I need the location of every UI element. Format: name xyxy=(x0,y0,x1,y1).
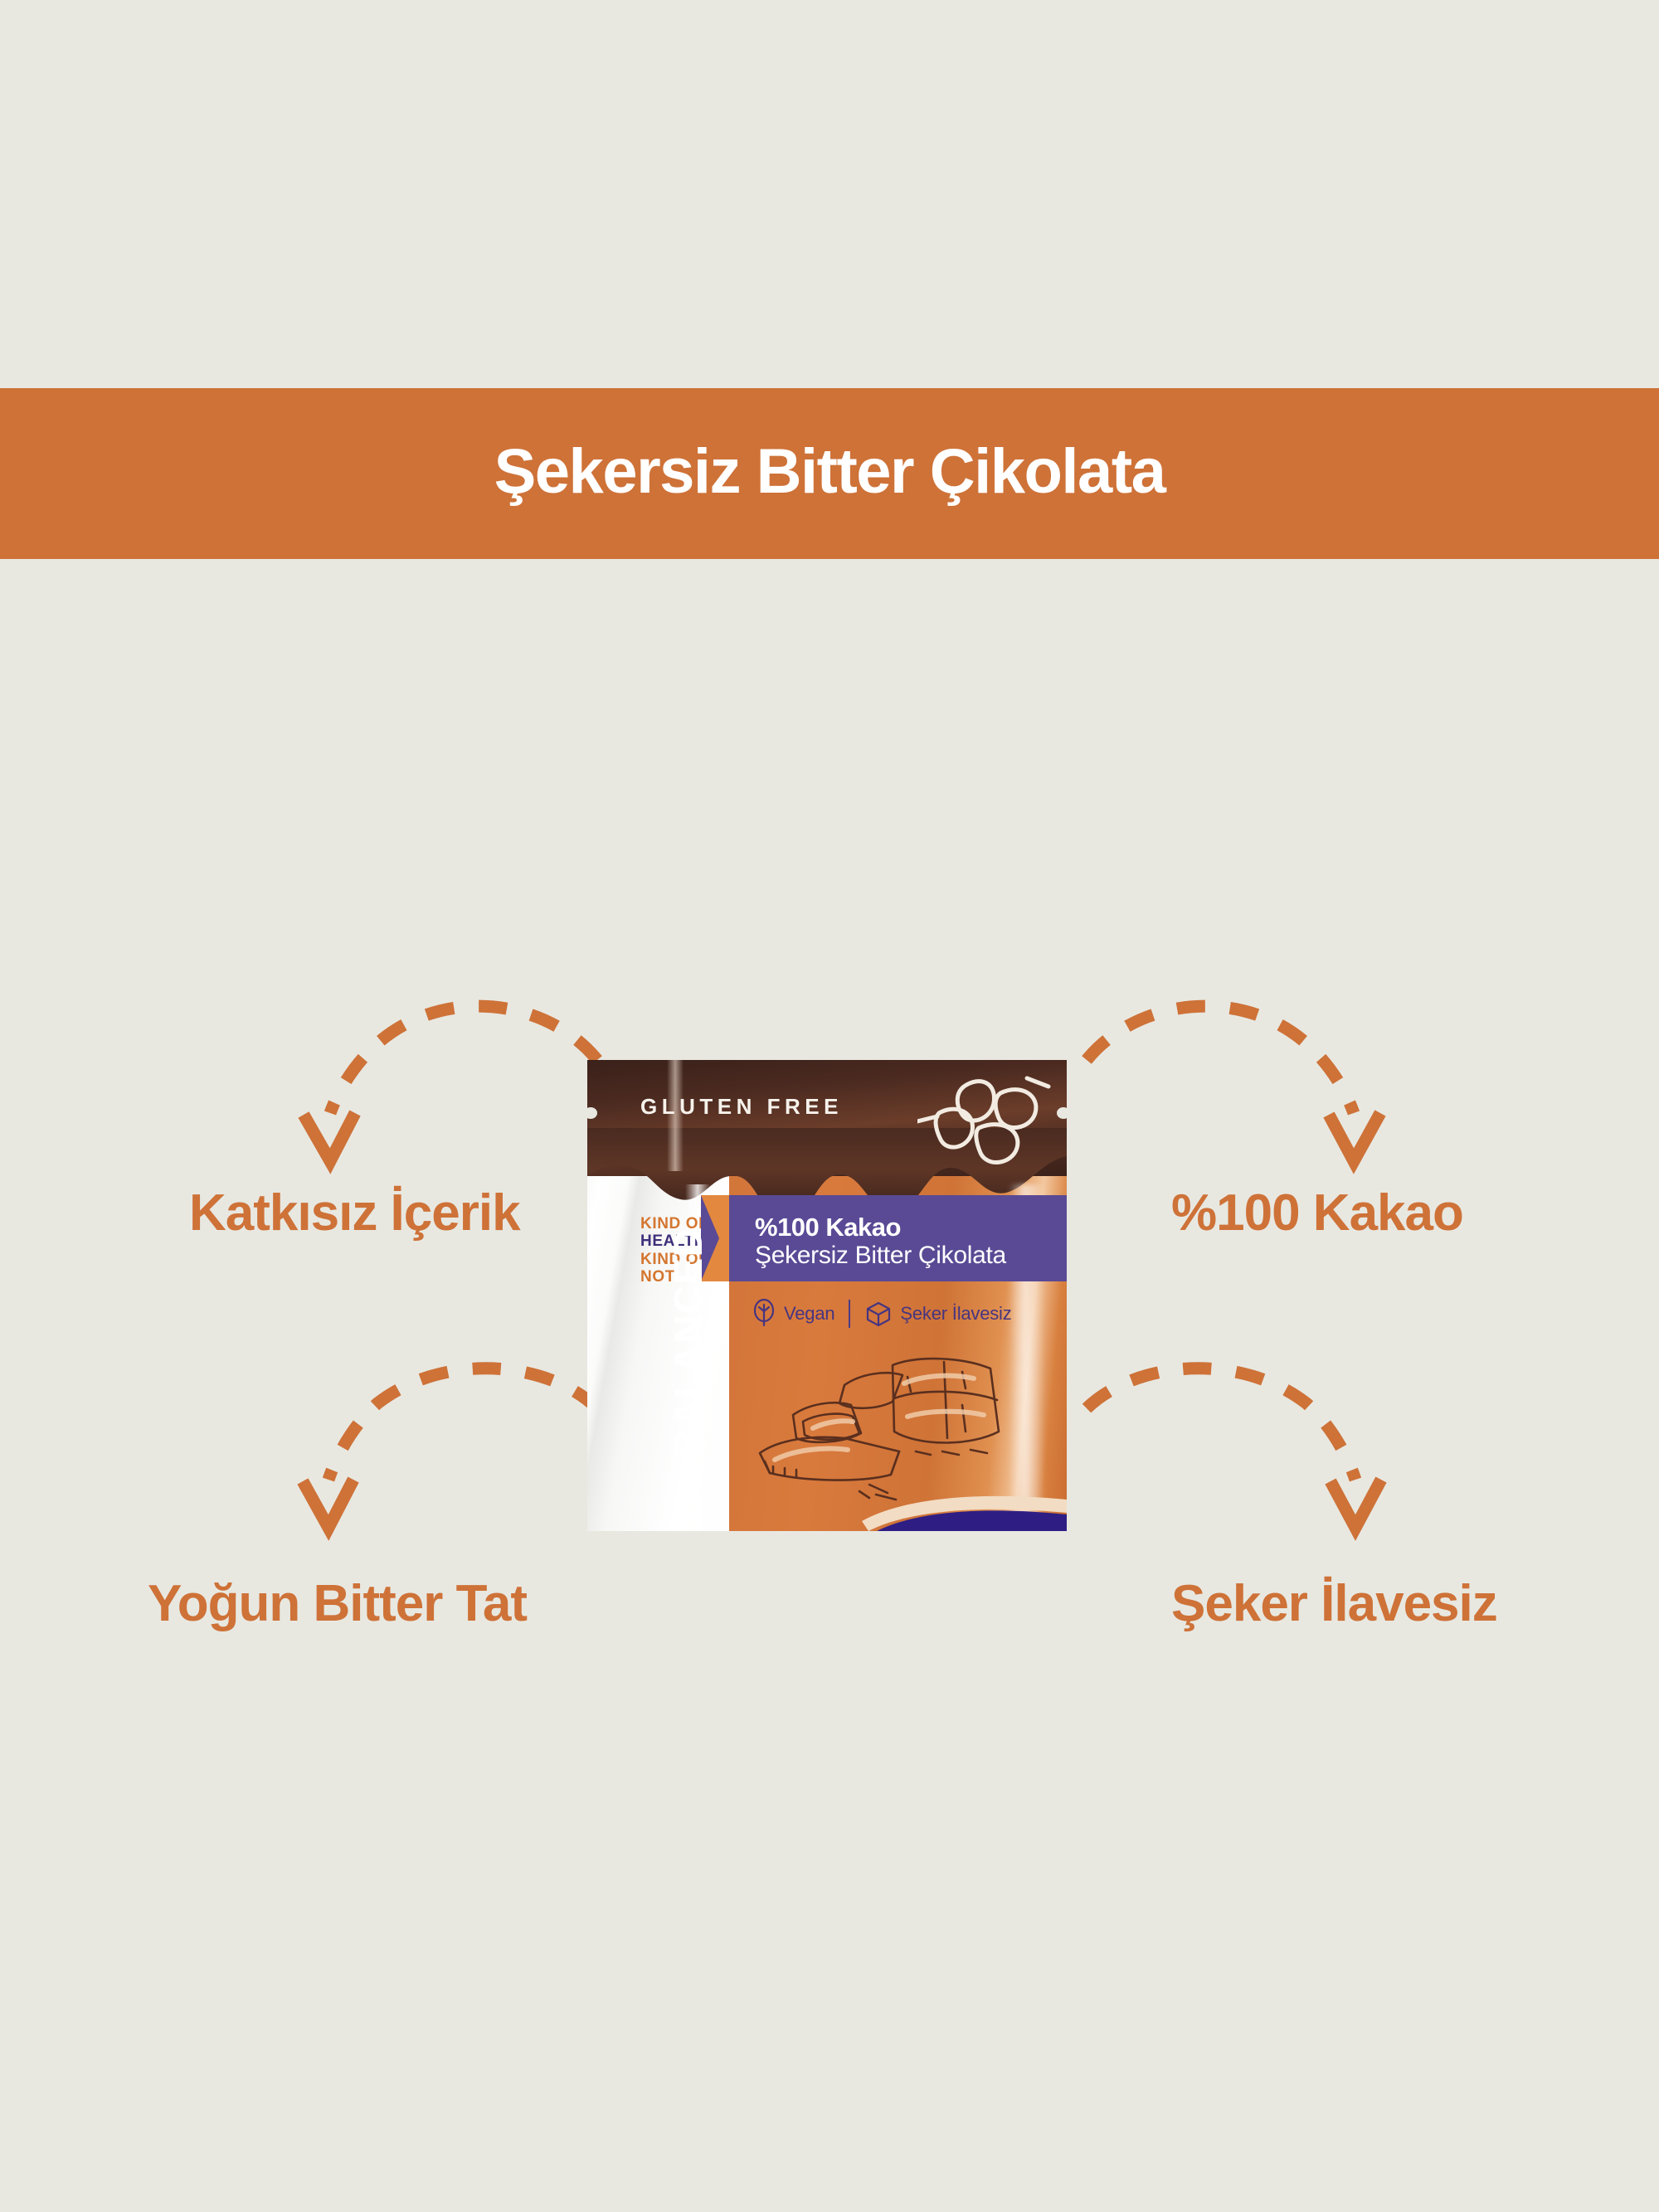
leaf-icon xyxy=(752,1299,776,1329)
badge-vegan: Vegan xyxy=(752,1299,834,1329)
infographic-page: Şekersiz Bitter Çikolata Katkısız İçerik… xyxy=(0,0,1659,2212)
feature-label-katkisiz-icerik: Katkısız İçerik xyxy=(189,1188,520,1239)
product-badges: Vegan Şeker İlavesiz xyxy=(752,1299,1012,1329)
arrow-bottom-left xyxy=(299,1385,614,1592)
arrow-top-right xyxy=(1070,987,1385,1194)
badge-seker-ilavesiz: Şeker İlavesiz xyxy=(864,1300,1011,1328)
product-name-text: %100 Kakao Şekersiz Bitter Çikolata xyxy=(755,1213,1006,1271)
feature-label-seker-ilavesiz: Şeker İlavesiz xyxy=(1171,1578,1497,1630)
arrow-top-left xyxy=(299,987,614,1194)
cocoa-bean-icon xyxy=(917,1068,1058,1176)
sugar-cube-icon xyxy=(864,1300,893,1328)
product-package-image: GLUTEN FREE KIND OF HEALTHY. KIND OF NOT xyxy=(587,1060,1067,1531)
badge-vegan-label: Vegan xyxy=(784,1303,834,1325)
feature-label-yuzde-100-kakao: %100 Kakao xyxy=(1171,1188,1463,1239)
vertical-balanced-text: KIND OF BALANCED xyxy=(666,1228,712,1531)
header-banner: Şekersiz Bitter Çikolata xyxy=(0,388,1659,559)
product-name-line-1: %100 Kakao xyxy=(755,1213,1006,1242)
badge-seker-ilavesiz-label: Şeker İlavesiz xyxy=(900,1303,1011,1325)
gluten-free-text: GLUTEN FREE xyxy=(640,1094,843,1120)
vertical-kind-of-label: KIND OF xyxy=(689,1465,706,1531)
badge-divider xyxy=(849,1300,850,1328)
feature-label-yogun-bitter-tat: Yoğun Bitter Tat xyxy=(148,1578,527,1630)
vertical-balanced-label: BALANCED xyxy=(666,1228,712,1457)
product-name-line-2: Şekersiz Bitter Çikolata xyxy=(755,1242,1006,1270)
page-title: Şekersiz Bitter Çikolata xyxy=(494,440,1165,503)
package-bottom-swoosh xyxy=(729,1463,1067,1531)
arrow-bottom-right xyxy=(1070,1385,1385,1592)
